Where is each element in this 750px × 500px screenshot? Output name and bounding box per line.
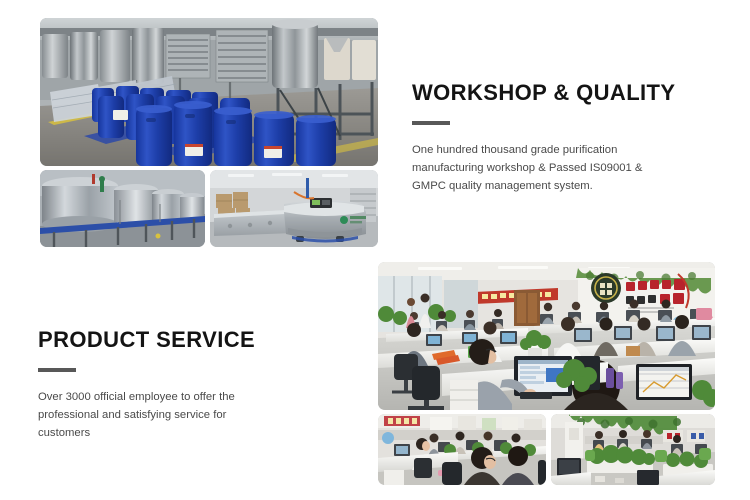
office-small-left-photo bbox=[378, 414, 546, 485]
office-main-photo-art bbox=[378, 262, 715, 410]
office-small-right-photo bbox=[551, 414, 715, 485]
workshop-body-text: One hundred thousand grade purification … bbox=[412, 141, 662, 195]
office-small-left-photo-art bbox=[378, 414, 546, 485]
page-root: WORKSHOP & QUALITY One hundred thousand … bbox=[0, 0, 750, 500]
workshop-heading-rule bbox=[412, 121, 450, 125]
product-service-heading-rule bbox=[38, 368, 76, 372]
workshop-small-left-photo bbox=[40, 170, 205, 247]
product-service-body-text: Over 3000 official employee to offer the… bbox=[38, 388, 263, 442]
product-service-heading: PRODUCT SERVICE bbox=[38, 327, 263, 353]
workshop-text-block: WORKSHOP & QUALITY One hundred thousand … bbox=[412, 80, 675, 195]
product-service-text-block: PRODUCT SERVICE Over 3000 official emplo… bbox=[38, 327, 263, 442]
office-main-photo bbox=[378, 262, 715, 410]
workshop-main-photo bbox=[40, 18, 378, 166]
workshop-small-right-photo-art bbox=[210, 170, 378, 247]
workshop-small-left-photo-art bbox=[40, 170, 205, 247]
workshop-small-right-photo bbox=[210, 170, 378, 247]
workshop-heading: WORKSHOP & QUALITY bbox=[412, 80, 675, 106]
office-small-right-photo-art bbox=[551, 414, 715, 485]
workshop-main-photo-art bbox=[40, 18, 378, 166]
